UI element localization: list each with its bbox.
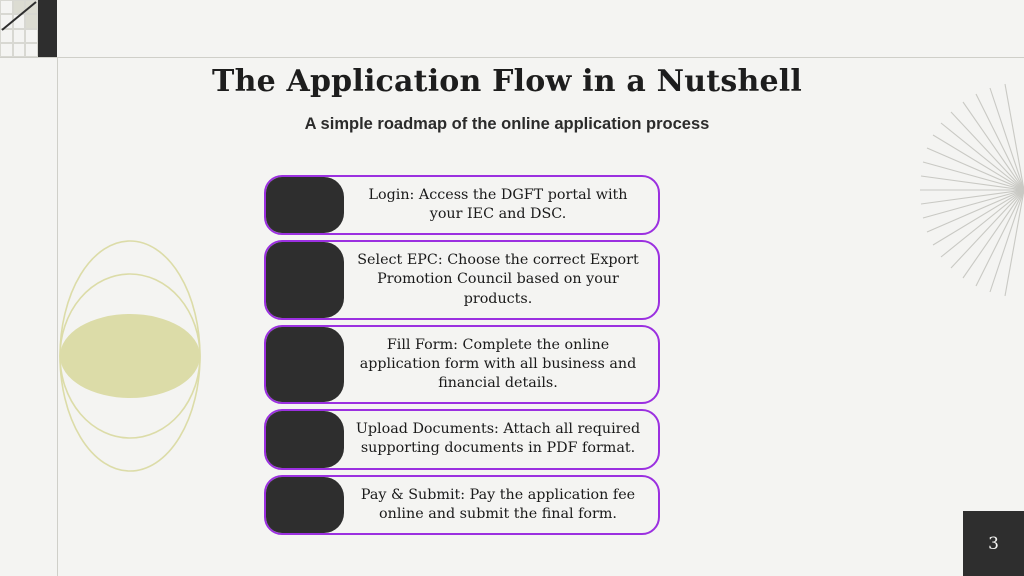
sunburst-rays-icon: [864, 80, 1024, 300]
step-marker: [266, 411, 344, 467]
step-text: Pay & Submit: Pay the application fee on…: [344, 477, 658, 533]
step-marker: [266, 242, 344, 317]
step-text: Fill Form: Complete the online applicati…: [344, 327, 658, 402]
list-item[interactable]: Upload Documents: Attach all required su…: [264, 409, 660, 469]
page-subtitle: A simple roadmap of the online applicati…: [57, 115, 957, 134]
steps-list: Login: Access the DGFT portal with your …: [264, 175, 664, 540]
page-title: The Application Flow in a Nutshell: [57, 64, 957, 99]
list-item[interactable]: Fill Form: Complete the online applicati…: [264, 325, 660, 404]
list-item[interactable]: Select EPC: Choose the correct Export Pr…: [264, 240, 660, 319]
list-item[interactable]: Login: Access the DGFT portal with your …: [264, 175, 660, 235]
list-item[interactable]: Pay & Submit: Pay the application fee on…: [264, 475, 660, 535]
header-divider: [0, 57, 1024, 58]
grid-logo-icon: [0, 0, 57, 57]
step-text: Select EPC: Choose the correct Export Pr…: [344, 242, 658, 317]
step-marker: [266, 177, 344, 233]
step-text: Login: Access the DGFT portal with your …: [344, 177, 658, 233]
slide-canvas: The Application Flow in a Nutshell A sim…: [0, 0, 1024, 576]
concentric-ellipses-icon: [58, 238, 203, 473]
logo-diagonal-icon: [0, 0, 38, 57]
page-number: 3: [963, 511, 1024, 576]
step-marker: [266, 327, 344, 402]
step-text: Upload Documents: Attach all required su…: [344, 411, 658, 467]
step-marker: [266, 477, 344, 533]
